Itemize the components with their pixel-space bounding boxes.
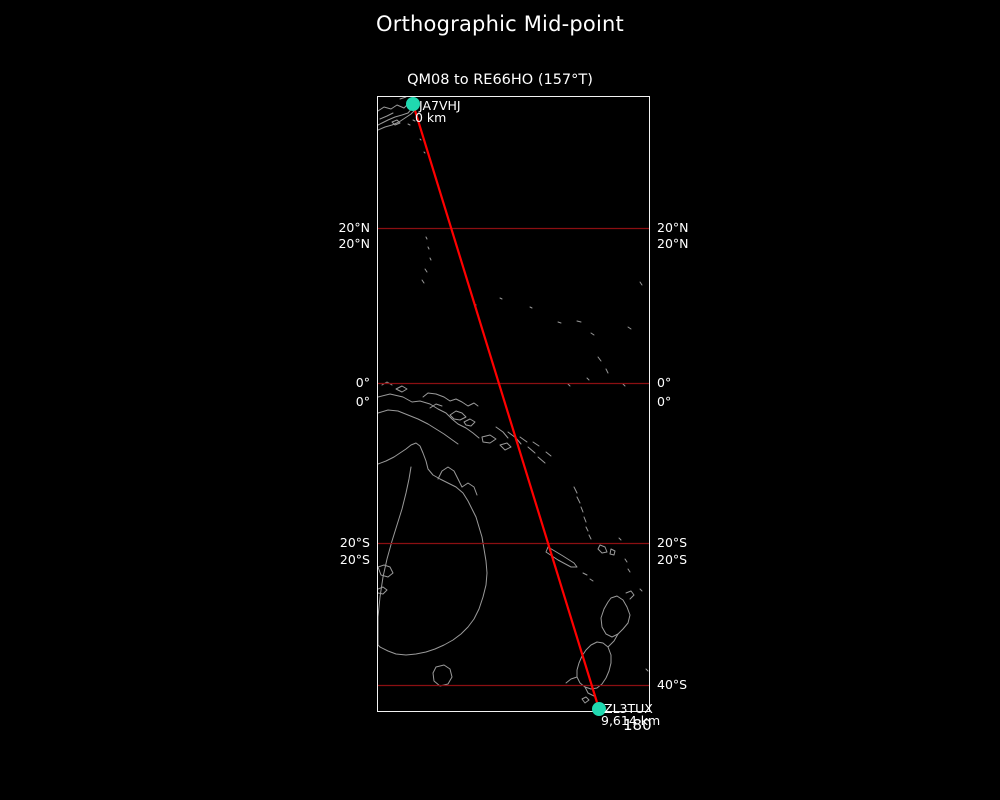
lat-label-left-0-b: 0° <box>255 394 370 409</box>
map-axes-frame[interactable] <box>377 96 650 712</box>
page-title: Orthographic Mid-point <box>0 12 1000 36</box>
endpoint-markers-layer <box>370 91 660 731</box>
lat-label-left-20n-a: 20°N <box>255 220 370 235</box>
figure-canvas: Orthographic Mid-point QM08 to RE66HO (1… <box>0 0 1000 800</box>
lat-label-right-20s-a: 20°S <box>657 535 687 550</box>
lat-label-right-20n-a: 20°N <box>657 220 689 235</box>
lat-label-left-20s-b: 20°S <box>255 552 370 567</box>
lat-label-left-0-a: 0° <box>255 375 370 390</box>
endpoint-marker-start[interactable] <box>406 97 420 111</box>
map-subtitle: QM08 to RE66HO (157°T) <box>0 72 1000 88</box>
lat-label-left-20s-a: 20°S <box>255 535 370 550</box>
lat-label-left-20n-b: 20°N <box>255 236 370 251</box>
lat-label-right-20n-b: 20°N <box>657 236 689 251</box>
lat-label-right-0-b: 0° <box>657 394 671 409</box>
lat-label-right-40s: 40°S <box>657 677 687 692</box>
endpoint-label-end-distance: 9,614 km <box>601 713 660 728</box>
endpoint-label-start-distance: 0 km <box>415 110 446 125</box>
lat-label-right-20s-b: 20°S <box>657 552 687 567</box>
lat-label-right-0-a: 0° <box>657 375 671 390</box>
